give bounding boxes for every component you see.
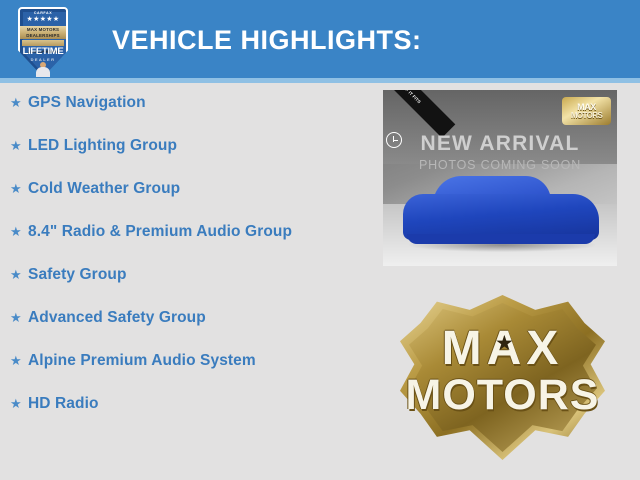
page-title: VEHICLE HIGHLIGHTS: [112, 25, 422, 56]
list-item: ★ Cold Weather Group [0, 178, 370, 200]
photo-title: NEW ARRIVAL [383, 132, 617, 156]
highlight-label: Cold Weather Group [28, 178, 370, 200]
star-bullet-icon: ★ [10, 350, 28, 372]
list-item: ★ Alpine Premium Audio System [0, 350, 370, 372]
logo-line2: MOTORS [400, 373, 605, 417]
vehicle-highlights-list: ★ GPS Navigation ★ LED Lighting Group ★ … [0, 92, 370, 436]
badge-dealership-band: MAX MOTORS DEALERSHIPS [20, 26, 66, 39]
vehicle-highlights-slide: CARFAX ★★★★★ MAX MOTORS DEALERSHIPS 2023… [0, 0, 640, 480]
highlight-label: GPS Navigation [28, 92, 370, 114]
list-item: ★ Advanced Safety Group [0, 307, 370, 329]
photo-subtitle: PHOTOS COMING SOON [383, 158, 617, 172]
star-bullet-icon: ★ [10, 92, 28, 114]
max-motors-watermark: MAX MOTORS [562, 97, 611, 125]
highlight-label: Alpine Premium Audio System [28, 350, 370, 372]
badge-dealership-line2: DEALERSHIPS [26, 33, 59, 38]
star-bullet-icon: ★ [10, 221, 28, 243]
list-item: ★ LED Lighting Group [0, 135, 370, 157]
covered-car-illustration [403, 174, 599, 244]
vehicle-photo-placeholder: ASK IF IT FITS MAX MOTORS NEW ARRIVAL PH… [383, 90, 617, 266]
highlight-label: 8.4" Radio & Premium Audio Group [28, 221, 370, 243]
list-item: ★ HD Radio [0, 393, 370, 415]
star-bullet-icon: ★ [10, 307, 28, 329]
list-item: ★ 8.4" Radio & Premium Audio Group [0, 221, 370, 243]
highlight-label: Advanced Safety Group [28, 307, 370, 329]
list-item: ★ Safety Group [0, 264, 370, 286]
highlight-label: Safety Group [28, 264, 370, 286]
badge-stars-icon: ★★★★★ [18, 16, 68, 24]
watermark-line2: MOTORS [571, 112, 602, 120]
carfax-lifetime-dealer-badge: CARFAX ★★★★★ MAX MOTORS DEALERSHIPS 2023… [18, 7, 68, 77]
header-divider [0, 78, 640, 83]
star-bullet-icon: ★ [10, 393, 28, 415]
highlight-label: HD Radio [28, 393, 370, 415]
highlight-label: LED Lighting Group [28, 135, 370, 157]
list-item: ★ GPS Navigation [0, 92, 370, 114]
badge-carfax-wordmark: CARFAX [18, 11, 68, 15]
logo-star-icon: ★ [495, 333, 514, 354]
badge-person-icon [35, 62, 51, 77]
badge-lifetime-label: LIFETIME [18, 46, 68, 57]
star-bullet-icon: ★ [10, 135, 28, 157]
star-bullet-icon: ★ [10, 264, 28, 286]
star-bullet-icon: ★ [10, 178, 28, 200]
max-motors-logo: MAX ★ MOTORS [400, 295, 605, 460]
